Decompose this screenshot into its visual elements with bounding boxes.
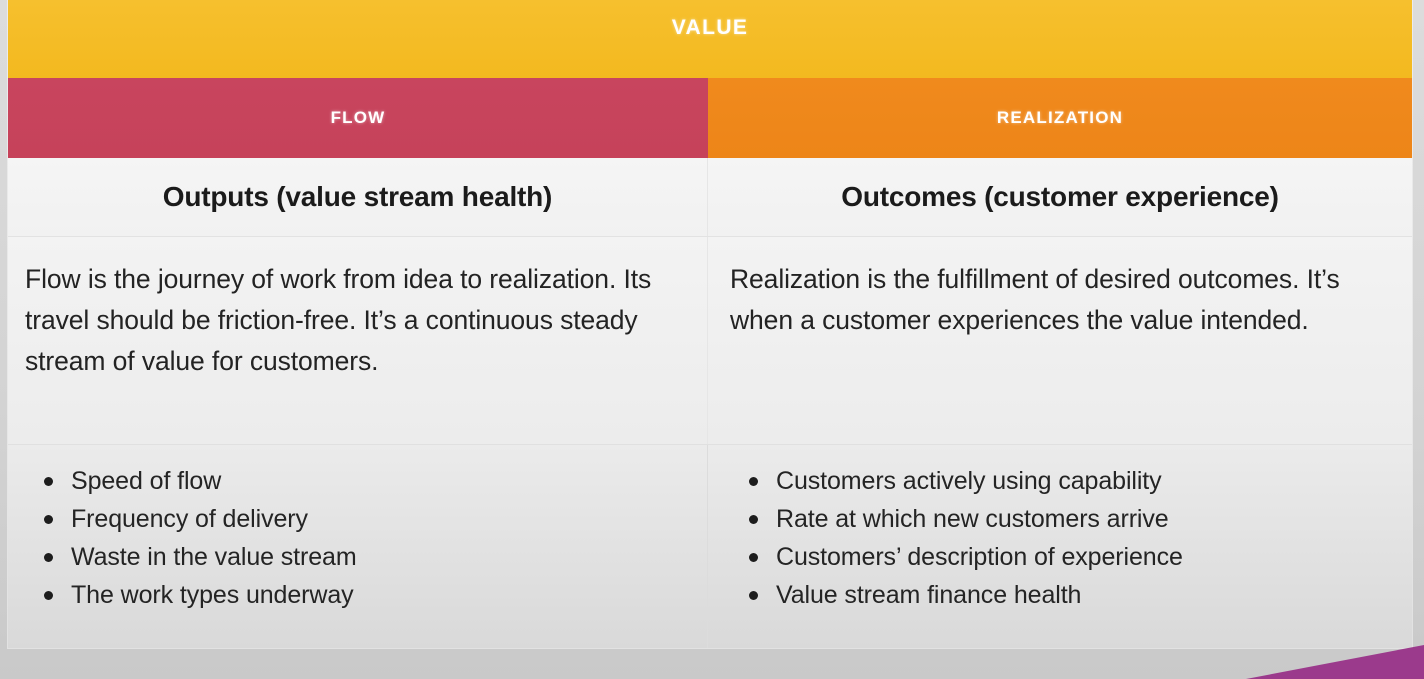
list-item: Rate at which new customers arrive (776, 500, 1392, 538)
value-banner: VALUE (8, 0, 1412, 78)
bullet-dot-icon (44, 553, 53, 562)
bullet-dot-icon (749, 477, 758, 486)
subheading-cell-realization: Outcomes (customer experience) (708, 158, 1412, 236)
description-realization-text: Realization is the fulfillment of desire… (730, 259, 1386, 341)
category-header-realization-label: REALIZATION (997, 108, 1123, 128)
list-item: Customers’ description of experience (776, 538, 1392, 576)
bullet-dot-icon (44, 591, 53, 600)
list-item: The work types underway (71, 576, 687, 614)
bullet-label: Frequency of delivery (71, 505, 308, 533)
value-banner-label: VALUE (672, 16, 749, 40)
bullet-row: Speed of flow Frequency of delivery Wast… (8, 445, 1412, 648)
category-header-flow-label: FLOW (331, 108, 386, 128)
description-flow-text: Flow is the journey of work from idea to… (25, 259, 681, 382)
bullet-list-realization: Customers actively using capability Rate… (730, 462, 1392, 614)
bullet-cell-flow: Speed of flow Frequency of delivery Wast… (8, 445, 708, 648)
category-header-realization: REALIZATION (708, 78, 1412, 158)
bullet-dot-icon (749, 591, 758, 600)
list-item: Customers actively using capability (776, 462, 1392, 500)
list-item: Waste in the value stream (71, 538, 687, 576)
bullet-cell-realization: Customers actively using capability Rate… (708, 445, 1412, 648)
bullet-dot-icon (749, 515, 758, 524)
bullet-label: Customers actively using capability (776, 467, 1162, 495)
description-row: Flow is the journey of work from idea to… (8, 237, 1412, 445)
bullet-label: Value stream finance health (776, 581, 1081, 609)
bullet-label: Rate at which new customers arrive (776, 505, 1169, 533)
bullet-list-flow: Speed of flow Frequency of delivery Wast… (25, 462, 687, 614)
bullet-label: Speed of flow (71, 467, 221, 495)
bullet-label: Customers’ description of experience (776, 543, 1183, 571)
bullet-label: The work types underway (71, 581, 354, 609)
bullet-dot-icon (44, 477, 53, 486)
subheading-flow-label: Outputs (value stream health) (163, 181, 552, 213)
description-cell-flow: Flow is the journey of work from idea to… (8, 237, 708, 444)
list-item: Speed of flow (71, 462, 687, 500)
list-item: Frequency of delivery (71, 500, 687, 538)
category-header-flow: FLOW (8, 78, 708, 158)
subheading-realization-label: Outcomes (customer experience) (841, 181, 1279, 213)
bullet-dot-icon (749, 553, 758, 562)
list-item: Value stream finance health (776, 576, 1392, 614)
bullet-dot-icon (44, 515, 53, 524)
value-comparison-table: VALUE FLOW REALIZATION Outputs (value st… (8, 0, 1412, 648)
description-cell-realization: Realization is the fulfillment of desire… (708, 237, 1412, 444)
subheading-cell-flow: Outputs (value stream health) (8, 158, 708, 236)
category-header-row: FLOW REALIZATION (8, 78, 1412, 158)
subheading-row: Outputs (value stream health) Outcomes (… (8, 158, 1412, 237)
bullet-label: Waste in the value stream (71, 543, 357, 571)
